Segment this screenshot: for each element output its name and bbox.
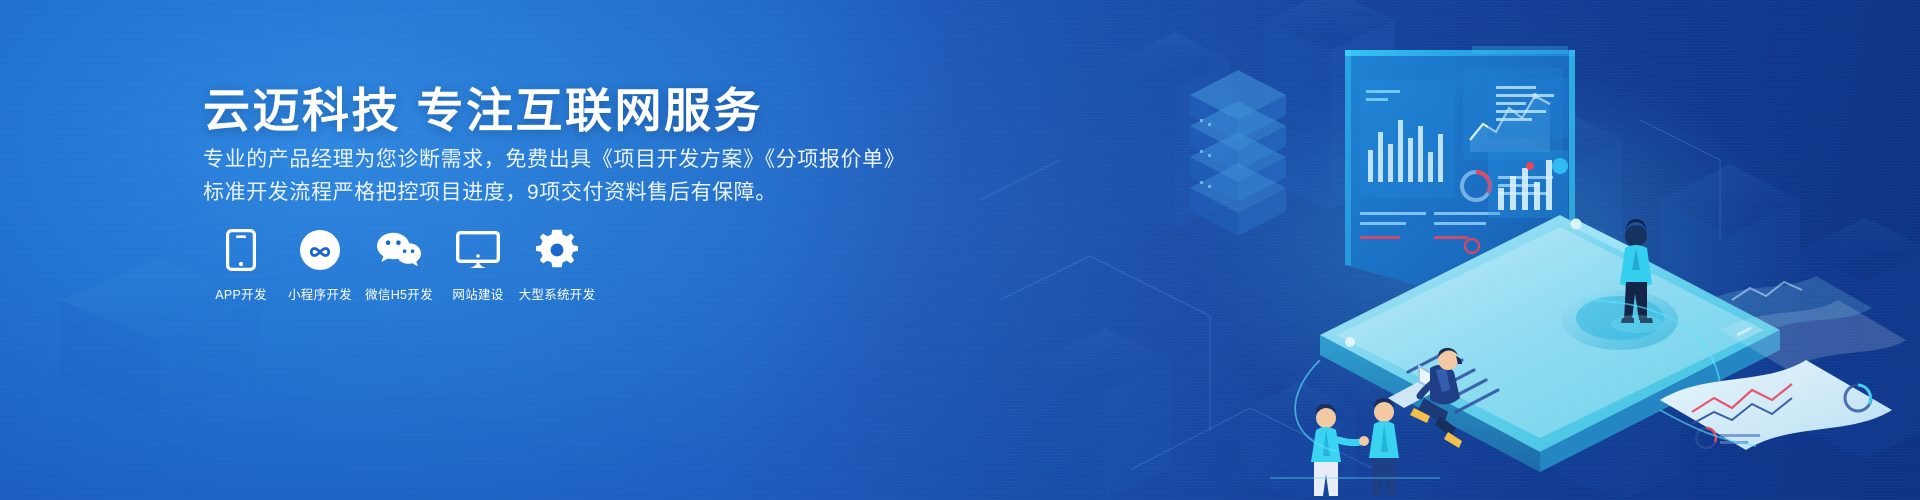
gear-icon: [535, 228, 579, 272]
service-icon-row: APP开发 小程序开发: [205, 228, 600, 303]
service-label-app: APP开发: [215, 284, 267, 303]
service-item-system[interactable]: 大型系统开发: [521, 228, 593, 303]
hero-banner: 云迈科技 专注互联网服务 专业的产品经理为您诊断需求，免费出具《项目开发方案》《…: [0, 0, 1920, 500]
service-label-website: 网站建设: [452, 284, 503, 303]
hero-illustration: [1020, 0, 1920, 500]
banner-content: 云迈科技 专注互联网服务 专业的产品经理为您诊断需求，免费出具《项目开发方案》《…: [203, 0, 963, 500]
service-item-website[interactable]: 网站建设: [442, 228, 514, 303]
mini-program-icon: [298, 228, 342, 272]
service-item-mini-program[interactable]: 小程序开发: [284, 228, 356, 303]
floating-stats-card: [1488, 78, 1568, 138]
mobile-phone-icon: [219, 228, 263, 272]
server-stack-illustration: [1190, 70, 1286, 236]
service-label-mini-program: 小程序开发: [288, 284, 352, 303]
wechat-icon: [377, 228, 421, 272]
service-item-app[interactable]: APP开发: [205, 228, 277, 303]
banner-subtitle-line-2: 标准开发流程严格把控项目进度，9项交付资料售后有保障。: [203, 176, 777, 209]
side-bar-panel: [1488, 150, 1568, 218]
banner-subtitle-line-1: 专业的产品经理为您诊断需求，免费出具《项目开发方案》《分项报价单》: [203, 143, 905, 176]
banner-headline: 云迈科技 专注互联网服务: [203, 72, 763, 141]
monitor-icon: [456, 228, 500, 272]
service-label-wechat: 微信H5开发: [365, 284, 433, 303]
service-label-system: 大型系统开发: [519, 284, 596, 303]
service-item-wechat[interactable]: 微信H5开发: [363, 228, 435, 303]
